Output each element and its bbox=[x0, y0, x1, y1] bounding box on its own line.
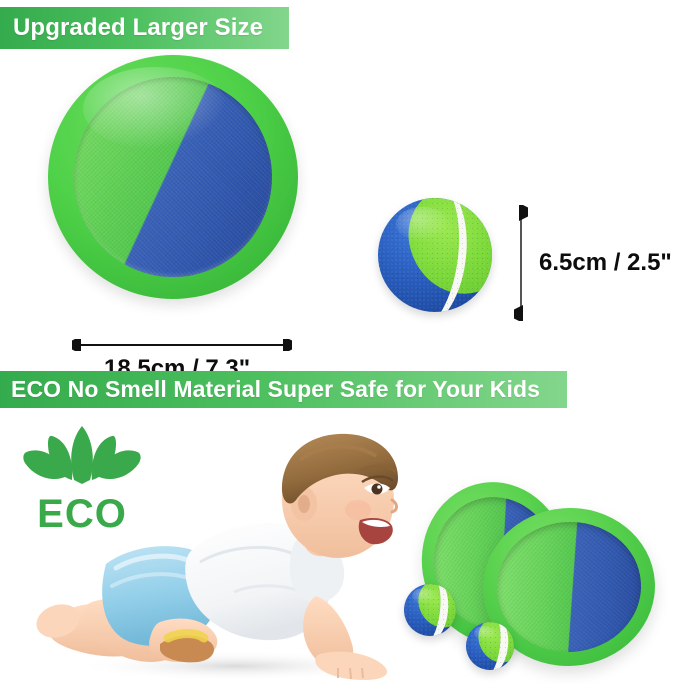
banner-upgraded-size-label: Upgraded Larger Size bbox=[13, 14, 263, 42]
catch-ball-icon bbox=[378, 198, 492, 312]
eco-leaves-icon bbox=[18, 420, 146, 496]
paddle-width-arrow-icon bbox=[72, 339, 292, 351]
eco-logo: ECO bbox=[18, 420, 146, 538]
catch-ball-small-icon bbox=[466, 622, 514, 670]
eco-section: ECO bbox=[0, 408, 679, 684]
ball-height-arrow-icon bbox=[514, 205, 528, 321]
ball-dimension-label: 6.5cm / 2.5" bbox=[539, 249, 672, 277]
ball-highlight bbox=[474, 626, 496, 640]
ball-highlight bbox=[412, 588, 436, 604]
catch-ball-small-icon bbox=[404, 584, 456, 636]
paddle-disc-icon bbox=[48, 55, 298, 299]
paddle-velcro-surface bbox=[74, 77, 272, 277]
paddle-and-ball-set bbox=[398, 480, 679, 684]
banner-eco-material-label: ECO No Smell Material Super Safe for You… bbox=[11, 376, 540, 403]
size-section: 18.5cm / 7.3" 6.5cm / 2.5" bbox=[0, 49, 679, 339]
paddle-velcro-surface bbox=[492, 517, 645, 656]
banner-eco-material: ECO No Smell Material Super Safe for You… bbox=[0, 371, 567, 408]
banner-upgraded-size: Upgraded Larger Size bbox=[0, 7, 289, 49]
eco-logo-word: ECO bbox=[18, 494, 146, 534]
ball-highlight bbox=[396, 207, 448, 241]
